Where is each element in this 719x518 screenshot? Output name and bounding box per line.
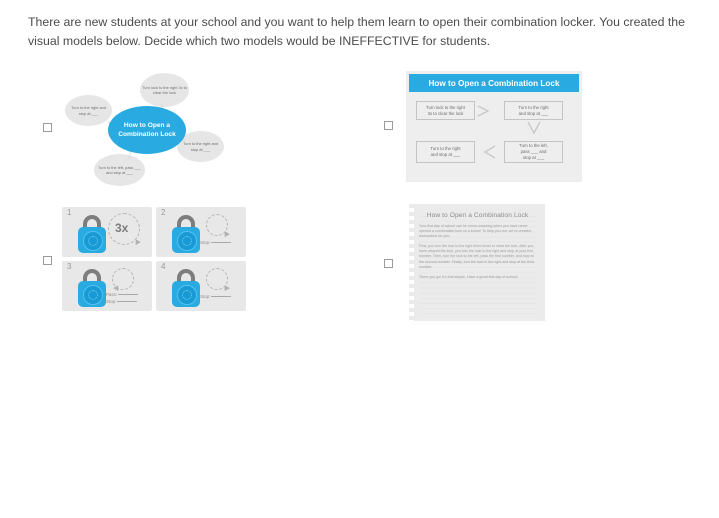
step-line-1: Turn lock to the right bbox=[426, 105, 465, 110]
model-flowchart[interactable]: How to Open a Combination Lock Turn lock… bbox=[406, 71, 582, 182]
option-checkbox-flowchart[interactable] bbox=[384, 121, 393, 130]
lock-panel-2: 2 Stop: bbox=[156, 207, 246, 257]
flowchart-step-3: Turn to the left, pass ___ and stop at _… bbox=[504, 141, 563, 163]
option-checkbox-lock-pictures[interactable] bbox=[43, 256, 52, 265]
paper-paragraph-2: First, you turn the lock to the right th… bbox=[419, 244, 536, 269]
flow-arrow-left-icon bbox=[479, 144, 499, 163]
question-prompt: There are new students at your school an… bbox=[28, 13, 704, 51]
panel-number: 1 bbox=[67, 208, 71, 217]
flowchart-title: How to Open a Combination Lock bbox=[409, 74, 579, 92]
flowchart-step-4: Turn to the right and stop at ___ bbox=[416, 141, 475, 163]
panel-stop-label: Stop: bbox=[200, 240, 231, 245]
step-line-2: and stop at ___ bbox=[519, 111, 549, 116]
step-line-1: Turn to the right bbox=[518, 105, 548, 110]
flow-arrow-right-icon bbox=[476, 104, 496, 121]
flowchart-step-1: Turn lock to the right 3x to clear the l… bbox=[416, 101, 475, 120]
paper-title: How to Open a Combination Lock bbox=[419, 212, 536, 219]
panel-stop-label: Stop: bbox=[106, 299, 137, 304]
bubble-center-title: How to Open a Combination Lock bbox=[108, 106, 186, 154]
panel-number: 3 bbox=[67, 262, 71, 271]
flowchart-step-2: Turn to the right and stop at ___ bbox=[504, 101, 563, 120]
panel-number: 4 bbox=[161, 262, 165, 271]
option-checkbox-bubble-map[interactable] bbox=[43, 123, 52, 132]
step-line-2: 3x to clear the lock bbox=[428, 111, 464, 116]
option-checkbox-lined-paper[interactable] bbox=[384, 259, 393, 268]
paper-torn-edge bbox=[405, 204, 414, 321]
panel-pass-label: Pass: bbox=[106, 292, 138, 297]
paper-paragraph-3: There you go! It's that simple. Have a g… bbox=[419, 275, 536, 280]
model-four-panel-lock-pictures[interactable]: 1 3x 2 Stop: 3 bbox=[62, 207, 246, 317]
model-bubble-cluster-map[interactable]: Turn lock to the right 3x to clear the l… bbox=[60, 68, 300, 190]
flow-arrow-down-icon bbox=[526, 120, 542, 143]
panel-number: 2 bbox=[161, 208, 165, 217]
rotation-arrow-icon: 3x bbox=[104, 212, 148, 254]
lock-panel-3: 3 Pass: Stop: bbox=[62, 261, 152, 311]
bubble-step-left: Turn to the right and stop at ___ bbox=[65, 95, 112, 126]
step-line-2: pass ___ and bbox=[521, 149, 547, 154]
model-lined-paper-instructions[interactable]: How to Open a Combination Lock Your firs… bbox=[405, 204, 545, 321]
rotation-arrow-icon bbox=[198, 212, 242, 254]
step-line-1: Turn to the right bbox=[430, 146, 460, 151]
bubble-step-bottom: Turn to the left, pass ___ and stop at _… bbox=[94, 154, 145, 186]
lock-panel-4: 4 Stop: bbox=[156, 261, 246, 311]
step-line-3: stop at ___ bbox=[523, 155, 544, 160]
step-line-2: and stop at ___ bbox=[431, 152, 461, 157]
step-line-1: Turn to the left, bbox=[519, 143, 548, 148]
panel-stop-label: Stop: bbox=[200, 294, 231, 299]
paper-paragraph-1: Your first day of school can be nerve-wr… bbox=[419, 224, 536, 239]
repeat-count-badge: 3x bbox=[115, 221, 128, 235]
bubble-step-top: Turn lock to the right 3x to clear the l… bbox=[140, 73, 189, 107]
lock-panel-1: 1 3x bbox=[62, 207, 152, 257]
rotation-arrow-icon bbox=[198, 266, 242, 308]
